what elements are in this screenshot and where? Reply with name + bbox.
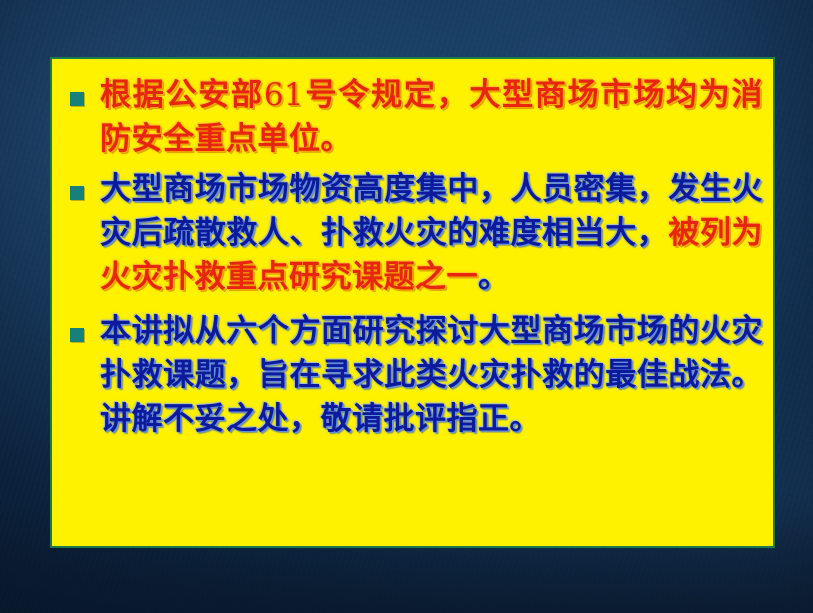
list-item: 本讲拟从六个方面研究探讨大型商场市场的火灾扑救课题，旨在寻求此类火灾扑救的最佳战… — [66, 309, 763, 441]
text-run-digits: 61 — [264, 77, 304, 113]
bullet-text-2: 大型商场市场物资高度集中，人员密集，发生火灾后疏散救人、扑救火灾的难度相当大，被… — [100, 167, 763, 299]
bullet-list: 根据公安部61号令规定，大型商场市场均为消防安全重点单位。 大型商场市场物资高度… — [52, 59, 773, 441]
bullet-text-1: 根据公安部61号令规定，大型商场市场均为消防安全重点单位。 — [100, 73, 763, 161]
square-bullet-icon — [70, 92, 84, 106]
content-panel: 根据公安部61号令规定，大型商场市场均为消防安全重点单位。 大型商场市场物资高度… — [50, 57, 775, 548]
text-run: 。 — [478, 259, 510, 295]
text-run: 大型商场市场物资高度集中，人员密集，发生火灾后疏散救人、扑救火灾的难度相当大， — [100, 171, 763, 251]
slide-canvas: 根据公安部61号令规定，大型商场市场均为消防安全重点单位。 大型商场市场物资高度… — [0, 0, 813, 613]
text-run: 本讲拟从六个方面研究探讨大型商场市场的火灾扑救课题，旨在寻求此类火灾扑救的最佳战… — [100, 313, 763, 437]
list-item: 根据公安部61号令规定，大型商场市场均为消防安全重点单位。 — [66, 73, 763, 161]
square-bullet-icon — [70, 328, 84, 342]
bullet-text-3: 本讲拟从六个方面研究探讨大型商场市场的火灾扑救课题，旨在寻求此类火灾扑救的最佳战… — [100, 309, 763, 441]
list-item: 大型商场市场物资高度集中，人员密集，发生火灾后疏散救人、扑救火灾的难度相当大，被… — [66, 167, 763, 299]
square-bullet-icon — [70, 186, 84, 200]
text-run: 根据公安部 — [100, 77, 264, 113]
